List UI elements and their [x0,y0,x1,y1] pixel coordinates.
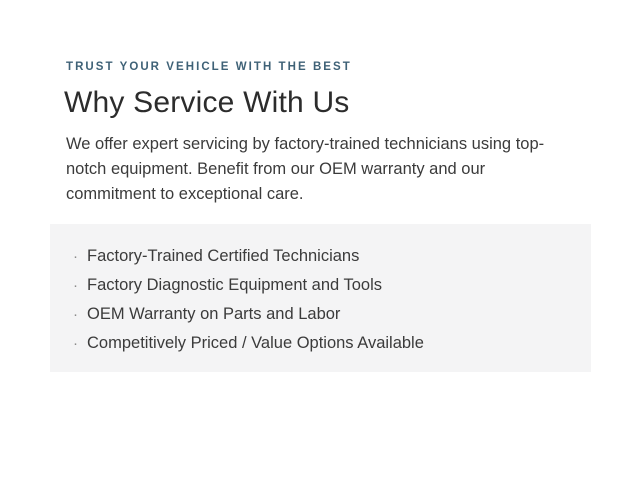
bullet-icon: · [73,271,87,300]
why-service-section: TRUST YOUR VEHICLE WITH THE BEST Why Ser… [0,0,640,480]
list-item-label: Competitively Priced / Value Options Ava… [87,329,424,358]
list-item: · Factory-Trained Certified Technicians [73,242,424,271]
intro-paragraph: We offer expert servicing by factory-tra… [66,132,550,207]
page-title: Why Service With Us [64,84,350,122]
list-item: · OEM Warranty on Parts and Labor [73,300,424,329]
bullet-icon: · [73,242,87,271]
list-item: · Competitively Priced / Value Options A… [73,329,424,358]
section-eyebrow: TRUST YOUR VEHICLE WITH THE BEST [66,60,352,74]
feature-list: · Factory-Trained Certified Technicians … [73,242,424,358]
feature-panel: · Factory-Trained Certified Technicians … [50,224,591,372]
list-item: · Factory Diagnostic Equipment and Tools [73,271,424,300]
list-item-label: Factory Diagnostic Equipment and Tools [87,271,382,300]
list-item-label: OEM Warranty on Parts and Labor [87,300,340,329]
bullet-icon: · [73,329,87,358]
list-item-label: Factory-Trained Certified Technicians [87,242,359,271]
bullet-icon: · [73,300,87,329]
